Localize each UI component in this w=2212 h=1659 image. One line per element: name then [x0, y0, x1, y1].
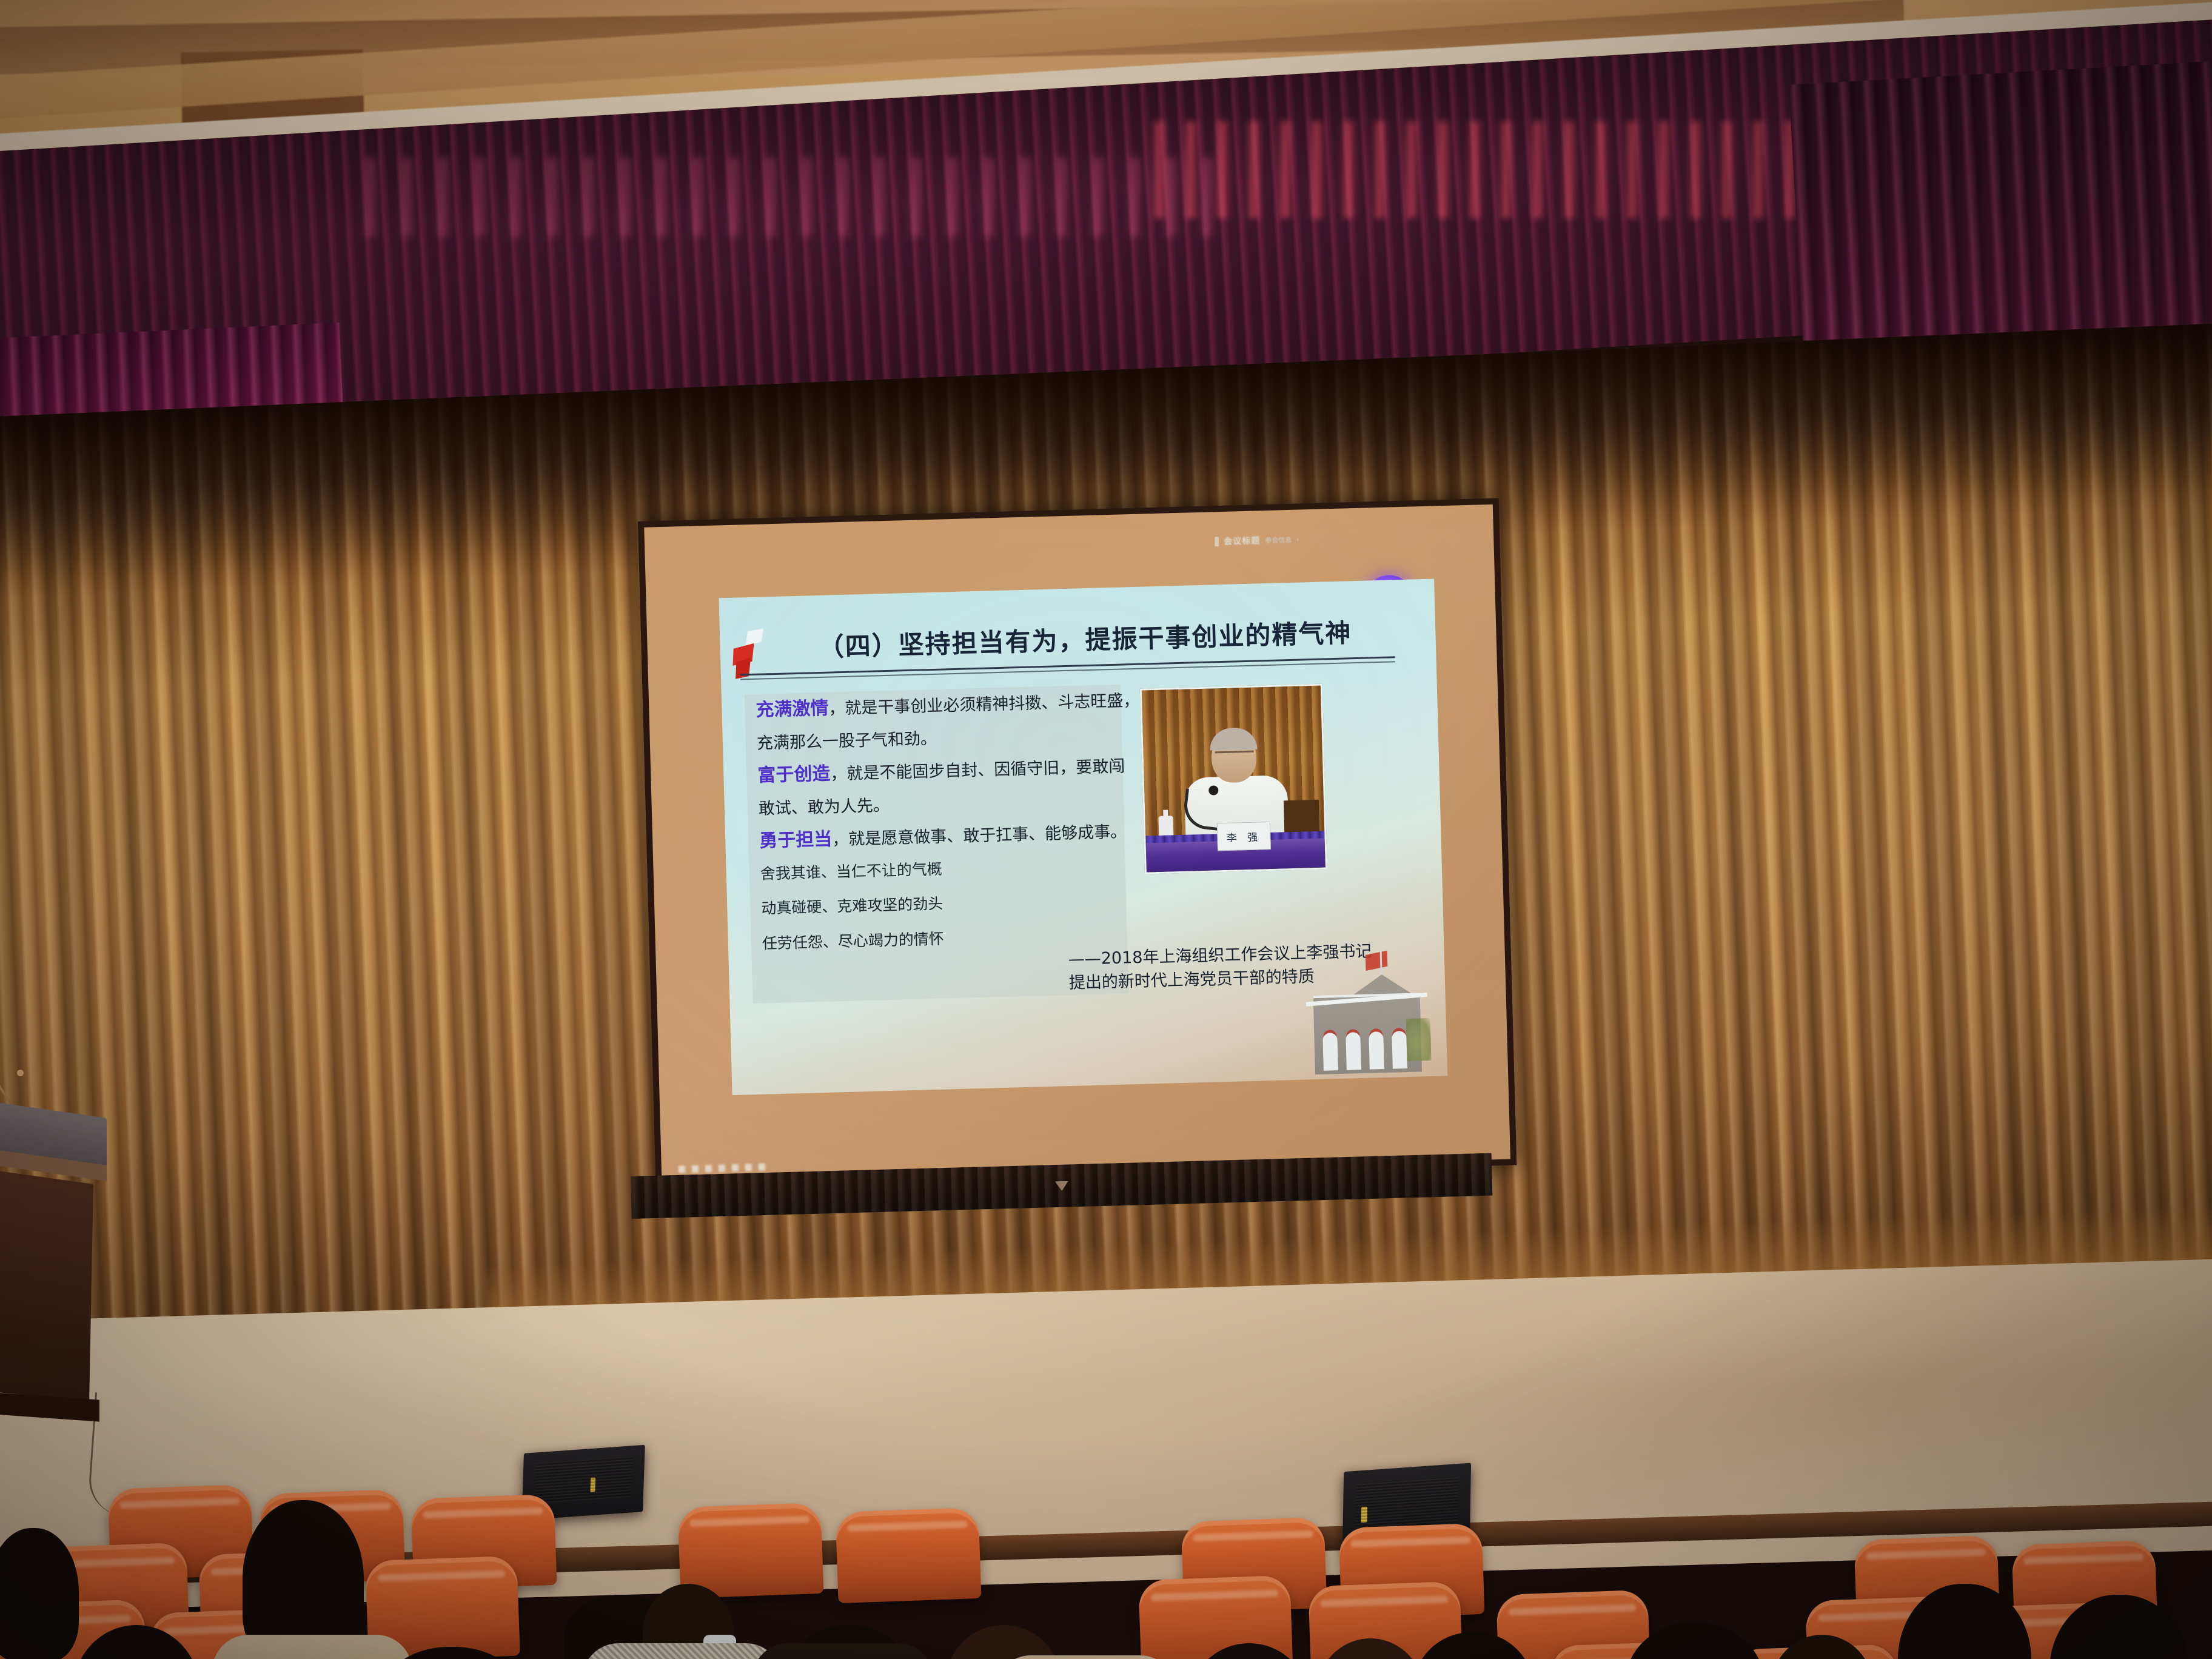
- slide-photo-inset: 李 强: [1140, 684, 1327, 874]
- keyword-3: 勇于担当: [759, 829, 833, 852]
- projection-screen: 会议标题 参会信息 › S 🎤 参会人: [638, 498, 1517, 1188]
- building-facade: [1313, 993, 1422, 1074]
- audience-shoulders: [582, 1643, 782, 1659]
- presentation-slide: （四）坚持担当有为，提振干事创业的精气神 充满激情，就是干事创业必须精神抖擞、斗…: [719, 579, 1447, 1096]
- building-foliage: [1406, 1018, 1432, 1061]
- audience-head: [0, 1534, 73, 1613]
- desktop-taskbar: [679, 1164, 769, 1173]
- body-text-5: ，就是愿意做事、敢于扛事、能够成事。: [832, 823, 1127, 850]
- body-line: 敢试、敢为人先。: [759, 790, 1147, 817]
- audience-shoulders: [212, 1635, 412, 1659]
- lectern-body: [0, 1170, 93, 1401]
- quality-line-1: 舍我其谁、当仁不让的气概: [760, 856, 1148, 882]
- title-divider-secondary: [740, 661, 1395, 680]
- valance-accent-lights-left: [364, 158, 1213, 236]
- projection-surface: 会议标题 参会信息 › S 🎤 参会人: [644, 504, 1510, 1182]
- body-line: 富于创造，就是不能固步自封、因循守旧，要敢闯: [757, 757, 1146, 786]
- people-icon: [1215, 537, 1219, 546]
- body-line: 勇于担当，就是愿意做事、敢于扛事、能够成事。: [759, 822, 1148, 851]
- quality-line-2: 动真碰硬、克难攻坚的劲头: [761, 891, 1149, 917]
- building-illustration: [1301, 956, 1432, 1075]
- glasses-icon: [1215, 751, 1254, 761]
- lectern: [0, 1110, 109, 1425]
- audience-shoulders: [752, 1643, 934, 1659]
- audience-head: [946, 1625, 1061, 1659]
- theater-seat: [835, 1507, 981, 1603]
- body-line: 充满那么一股子气和劲。: [757, 725, 1145, 752]
- building-window: [1346, 1032, 1361, 1070]
- microphone-capsule: [17, 1070, 24, 1076]
- keyword-1: 充满激情: [756, 698, 829, 721]
- body-text-4: 敢试、敢为人先。: [758, 796, 890, 819]
- meeting-topbar: 会议标题 参会信息 ›: [1215, 529, 1385, 550]
- slide-body-text: 充满激情，就是干事创业必须精神抖擞、斗志旺盛， 充满那么一股子气和劲。 富于创造…: [756, 691, 1151, 971]
- theater-seat: [677, 1503, 823, 1598]
- photo-nameplate: 李 强: [1217, 822, 1271, 851]
- building-window: [1369, 1031, 1384, 1070]
- slide-title: （四）坚持担当有为，提振干事创业的精气神: [763, 611, 1407, 666]
- building-window: [1322, 1033, 1338, 1071]
- chevron-right-icon[interactable]: ›: [1296, 535, 1299, 544]
- building-window: [1392, 1031, 1407, 1069]
- keyword-2: 富于创造: [757, 763, 831, 786]
- audience-seating: [0, 1443, 2212, 1659]
- meeting-subtitle: 参会信息: [1265, 535, 1292, 545]
- body-text-3: ，就是不能固步自封、因循守旧，要敢闯: [830, 757, 1125, 784]
- body-text-2: 充满那么一股子气和劲。: [757, 729, 937, 752]
- auditorium-photo: 会议标题 参会信息 › S 🎤 参会人: [0, 0, 2212, 1659]
- meeting-title: 会议标题: [1224, 534, 1261, 548]
